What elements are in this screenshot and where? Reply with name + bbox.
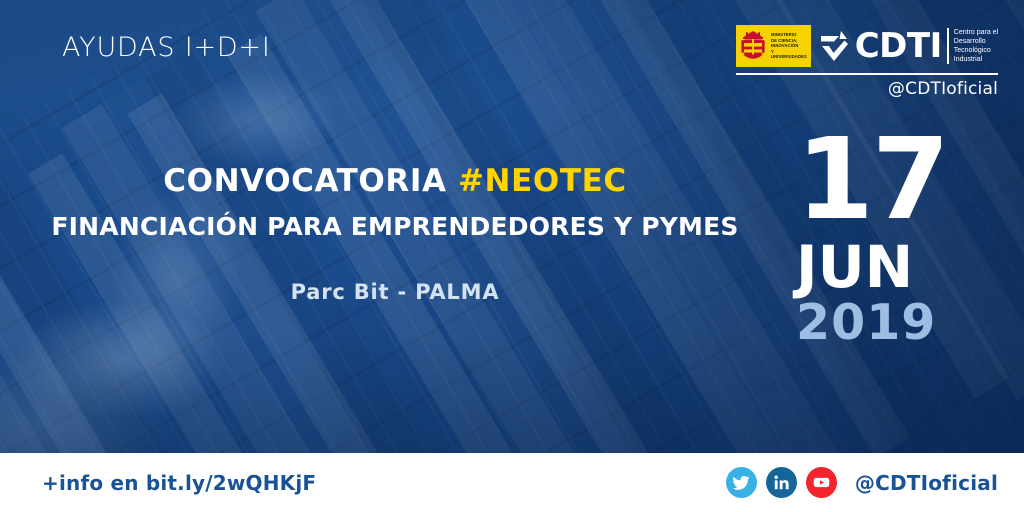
cdti-tagline: Centro para el Desarrollo Tecnológico In… <box>947 28 998 65</box>
header-social-handle: @CDTIoficial <box>736 79 998 99</box>
spain-coat-of-arms-icon <box>740 30 766 63</box>
cdti-tagline-line-4: Industrial <box>954 55 998 64</box>
headline-title: CONVOCATORIA #NEOTEC <box>0 162 790 200</box>
twitter-icon[interactable] <box>726 467 757 498</box>
cdti-arrow-check-icon <box>820 30 850 62</box>
cdti-tagline-line-3: Tecnológico <box>954 46 998 55</box>
event-month: JUN <box>796 238 996 296</box>
headline-title-prefix: CONVOCATORIA <box>163 163 458 199</box>
logo-row: MINISTERIO DE CIENCIA, INNOVACIÓN Y UNIV… <box>736 24 998 68</box>
cdti-tagline-line-2: Desarrollo <box>954 37 998 46</box>
social-links: @CDTIoficial <box>726 467 998 498</box>
ministry-line-3: Y UNIVERSIDADES <box>771 49 807 60</box>
cdti-mark: CDTI Centro para el Desarrollo Tecnológi… <box>820 28 998 65</box>
footer-bar: +info en bit.ly/2wQHKjF @C <box>0 453 1024 512</box>
ministry-logo: MINISTERIO DE CIENCIA, INNOVACIÓN Y UNIV… <box>736 25 811 67</box>
cdti-logo-block: MINISTERIO DE CIENCIA, INNOVACIÓN Y UNIV… <box>736 24 998 99</box>
logo-divider <box>736 73 998 75</box>
headline-block: CONVOCATORIA #NEOTEC FINANCIACIÓN PARA E… <box>0 162 790 304</box>
promo-banner: AYUDAS I+D+I MINI <box>0 0 1024 512</box>
event-day: 17 <box>796 132 996 228</box>
event-year: 2019 <box>796 298 996 348</box>
more-info-link[interactable]: +info en bit.ly/2wQHKjF <box>42 471 316 495</box>
linkedin-icon[interactable] <box>766 467 797 498</box>
headline-subtitle: FINANCIACIÓN PARA EMPRENDEDORES Y PYMES <box>0 212 790 242</box>
cdti-tagline-line-1: Centro para el <box>954 28 998 37</box>
event-date-block: 17 JUN 2019 <box>796 132 996 348</box>
event-location: Parc Bit - PALMA <box>0 280 790 304</box>
ministry-logo-text: MINISTERIO DE CIENCIA, INNOVACIÓN Y UNIV… <box>771 32 807 60</box>
headline-hashtag: #NEOTEC <box>458 163 627 199</box>
youtube-icon[interactable] <box>806 467 837 498</box>
footer-social-handle[interactable]: @CDTIoficial <box>855 471 998 495</box>
ministry-line-2: DE CIENCIA, INNOVACIÓN <box>771 38 807 49</box>
cdti-wordmark: CDTI <box>855 29 942 63</box>
kicker-text: AYUDAS I+D+I <box>62 32 271 63</box>
